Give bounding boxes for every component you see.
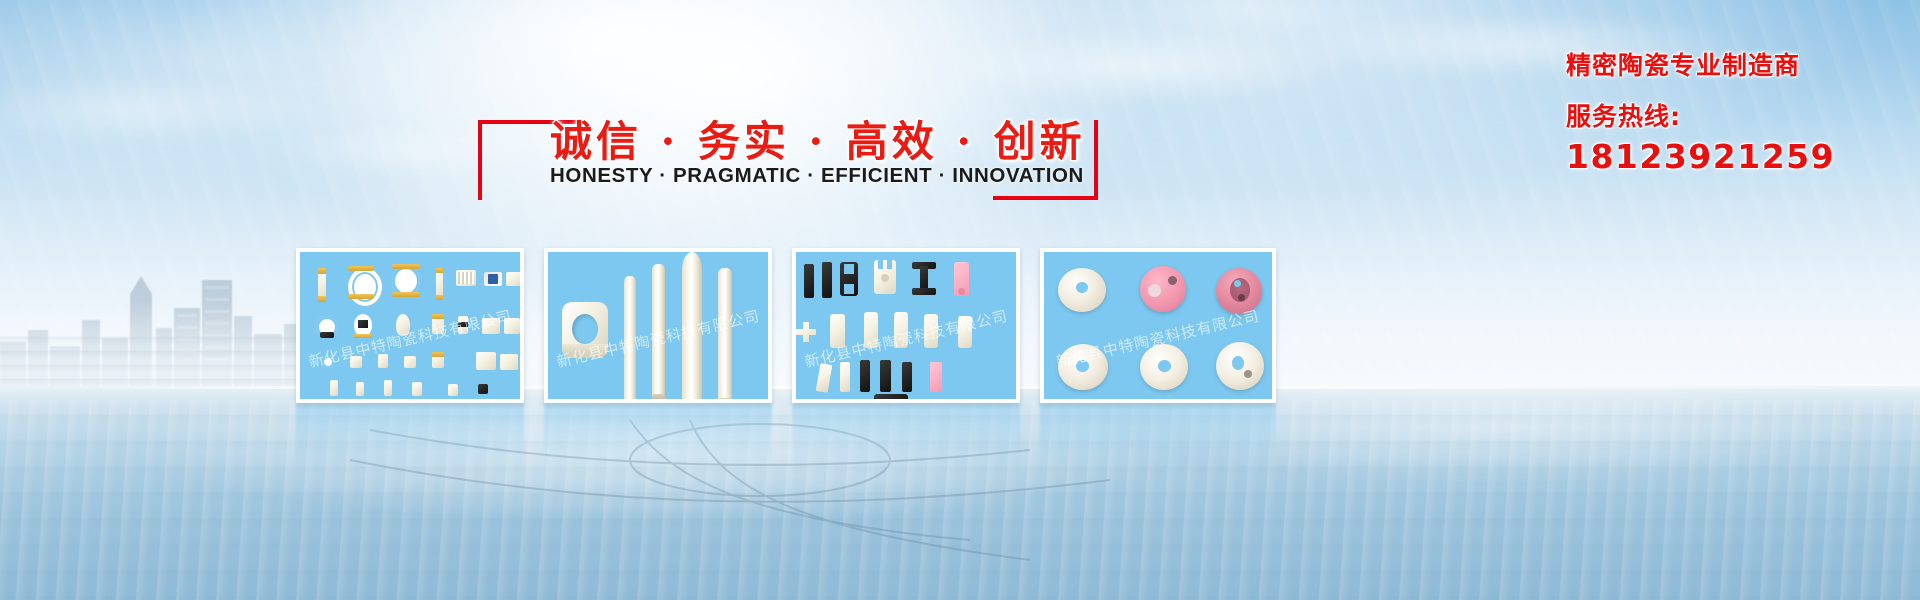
bracket-top-left-vertical: [478, 120, 482, 200]
panel-reflection-1: [296, 403, 524, 473]
contact-block: 精密陶瓷专业制造商 服务热线: 18123921259: [1566, 52, 1896, 176]
product-panel-group: 新化县中特陶瓷科技有限公司 新化县中特陶瓷科技有限公司: [296, 248, 1284, 403]
slogan-english: HONESTY · PRAGMATIC · EFFICIENT · INNOVA…: [550, 164, 1030, 188]
bracket-bottom-right-vertical: [1094, 120, 1098, 200]
bracket-bottom-right-horizontal: [993, 196, 1098, 200]
panel-smd-ceramic-components[interactable]: 新化县中特陶瓷科技有限公司: [296, 248, 524, 403]
panel-ceramic-insulator-parts[interactable]: 新化县中特陶瓷科技有限公司: [792, 248, 1020, 403]
panel-2-image: 新化县中特陶瓷科技有限公司: [548, 252, 768, 399]
slogan-chinese: 诚信 · 务实 · 高效 · 创新: [550, 108, 1030, 169]
panel-reflection-3: [792, 403, 1020, 473]
panel-ceramic-rods-tubes[interactable]: 新化县中特陶瓷科技有限公司: [544, 248, 772, 403]
panel-3-image: 新化县中特陶瓷科技有限公司: [796, 252, 1016, 399]
hotline-number[interactable]: 18123921259: [1566, 137, 1896, 176]
company-tagline: 精密陶瓷专业制造商: [1566, 52, 1896, 81]
hotline-label: 服务热线:: [1566, 97, 1896, 133]
slogan-block: 诚信 · 务实 · 高效 · 创新 HONESTY · PRAGMATIC · …: [478, 112, 1098, 202]
panel-reflection-4: [1040, 403, 1276, 473]
panel-4-image: 新化县中特陶瓷科技有限公司: [1044, 252, 1272, 399]
panel-ceramic-discs-nozzles[interactable]: 新化县中特陶瓷科技有限公司: [1040, 248, 1276, 403]
promo-banner: 诚信 · 务实 · 高效 · 创新 HONESTY · PRAGMATIC · …: [0, 0, 1920, 600]
panel-1-image: 新化县中特陶瓷科技有限公司: [300, 252, 520, 399]
panel-reflection-2: [544, 403, 772, 473]
